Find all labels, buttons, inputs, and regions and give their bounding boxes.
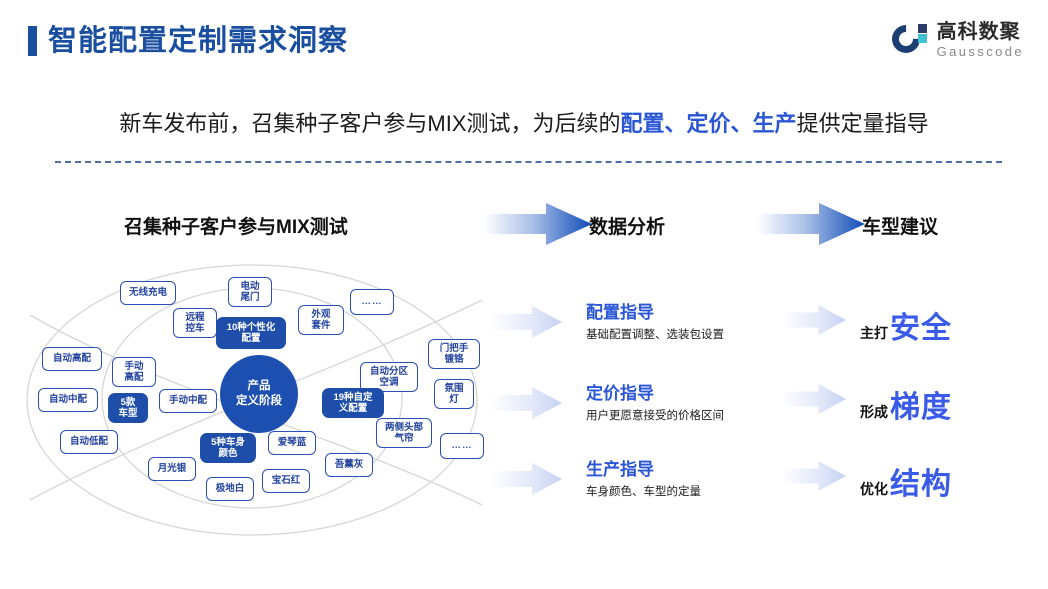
analysis-item-subtitle: 车身颜色、车型的定量 xyxy=(586,484,701,501)
logo-mark-icon xyxy=(892,22,928,58)
column-heading-left: 召集种子客户参与MIX测试 xyxy=(124,212,348,239)
suggestion-prefix: 优化 xyxy=(860,479,888,499)
bubble-node: 自动低配 xyxy=(60,430,118,454)
bubble-node: 10种个性化 配置 xyxy=(216,317,286,349)
column-heading-right: 车型建议 xyxy=(862,212,938,239)
suggestion-keyword: 梯度 xyxy=(890,382,952,426)
flow-arrow-to-analysis-icon xyxy=(490,306,562,338)
title-accent-bar xyxy=(28,26,37,56)
logo-name-en: Gausscode xyxy=(937,45,1024,58)
bubble-node: …… xyxy=(350,289,394,315)
slide: 智能配置定制需求洞察 高科数聚 Gausscode 新车发布前，召集种子客户参与… xyxy=(0,0,1048,589)
bubble-node: 月光银 xyxy=(148,457,196,481)
bubble-node: 爱琴蓝 xyxy=(268,431,316,455)
suggestion-keyword: 安全 xyxy=(890,303,952,347)
bubble-node: 两侧头部 气帘 xyxy=(376,418,432,448)
subtitle-highlight: 配置、定价、生产 xyxy=(621,111,797,136)
flow-arrow-to-suggestion-icon xyxy=(780,384,846,414)
bubble-node: 5种车身 颜色 xyxy=(200,433,256,463)
bubble-node: 无线充电 xyxy=(120,281,176,305)
logo-name-cn: 高科数聚 xyxy=(937,22,1024,42)
analysis-item-title: 配置指导 xyxy=(586,302,724,324)
bubble-center-node: 产品 定义阶段 xyxy=(220,355,298,433)
suggestion-item: 优化结构 xyxy=(860,459,952,503)
bubble-node: 外观 套件 xyxy=(298,305,344,335)
analysis-item: 生产指导车身颜色、车型的定量 xyxy=(586,459,701,501)
bubble-node: 5款 车型 xyxy=(108,393,148,423)
bubble-node: …… xyxy=(440,433,484,459)
bubble-node: 手动 高配 xyxy=(112,357,156,387)
bubble-node: 自动高配 xyxy=(42,347,102,371)
suggestion-item: 形成梯度 xyxy=(860,382,952,426)
bubble-node: 极地白 xyxy=(206,477,254,501)
flow-arrow-to-analysis-icon xyxy=(490,387,562,419)
bubble-node: 门把手 镀铬 xyxy=(428,339,480,369)
analysis-item-subtitle: 用户更愿意接受的价格区间 xyxy=(586,408,724,425)
bubble-node: 吾薰灰 xyxy=(325,453,373,477)
subtitle-part2: 提供定量指导 xyxy=(797,111,929,136)
process-arrow-1-icon xyxy=(484,203,592,245)
bubble-node: 电动 尾门 xyxy=(228,277,272,307)
flow-arrow-to-suggestion-icon xyxy=(780,461,846,491)
flow-arrow-to-suggestion-icon xyxy=(780,305,846,335)
bubble-diagram: 产品 定义阶段 无线充电电动 尾门……远程 控车10种个性化 配置外观 套件门把… xyxy=(20,255,490,545)
suggestion-prefix: 主打 xyxy=(860,323,888,343)
bubble-node: 氛围 灯 xyxy=(434,379,474,409)
brand-logo: 高科数聚 Gausscode xyxy=(892,22,1024,58)
bubble-node: 手动中配 xyxy=(159,389,217,413)
section-divider xyxy=(55,161,1002,163)
bubble-node: 远程 控车 xyxy=(173,308,217,338)
column-heading-mid: 数据分析 xyxy=(589,212,665,239)
analysis-item-title: 生产指导 xyxy=(586,459,701,481)
process-arrow-2-icon xyxy=(757,203,865,245)
bubble-node: 19种自定 义配置 xyxy=(322,388,384,418)
analysis-item: 定价指导用户更愿意接受的价格区间 xyxy=(586,383,724,425)
suggestion-prefix: 形成 xyxy=(860,402,888,422)
suggestion-item: 主打安全 xyxy=(860,303,952,347)
analysis-item: 配置指导基础配置调整、选装包设置 xyxy=(586,302,724,344)
analysis-item-title: 定价指导 xyxy=(586,383,724,405)
bubble-node: 宝石红 xyxy=(262,469,310,493)
flow-arrow-to-analysis-icon xyxy=(490,463,562,495)
subtitle: 新车发布前，召集种子客户参与MIX测试，为后续的配置、定价、生产提供定量指导 xyxy=(0,108,1048,140)
suggestion-keyword: 结构 xyxy=(890,459,952,503)
analysis-item-subtitle: 基础配置调整、选装包设置 xyxy=(586,327,724,344)
subtitle-part1: 新车发布前，召集种子客户参与MIX测试，为后续的 xyxy=(119,111,620,136)
bubble-node: 自动中配 xyxy=(38,388,98,412)
page-title: 智能配置定制需求洞察 xyxy=(48,22,348,60)
